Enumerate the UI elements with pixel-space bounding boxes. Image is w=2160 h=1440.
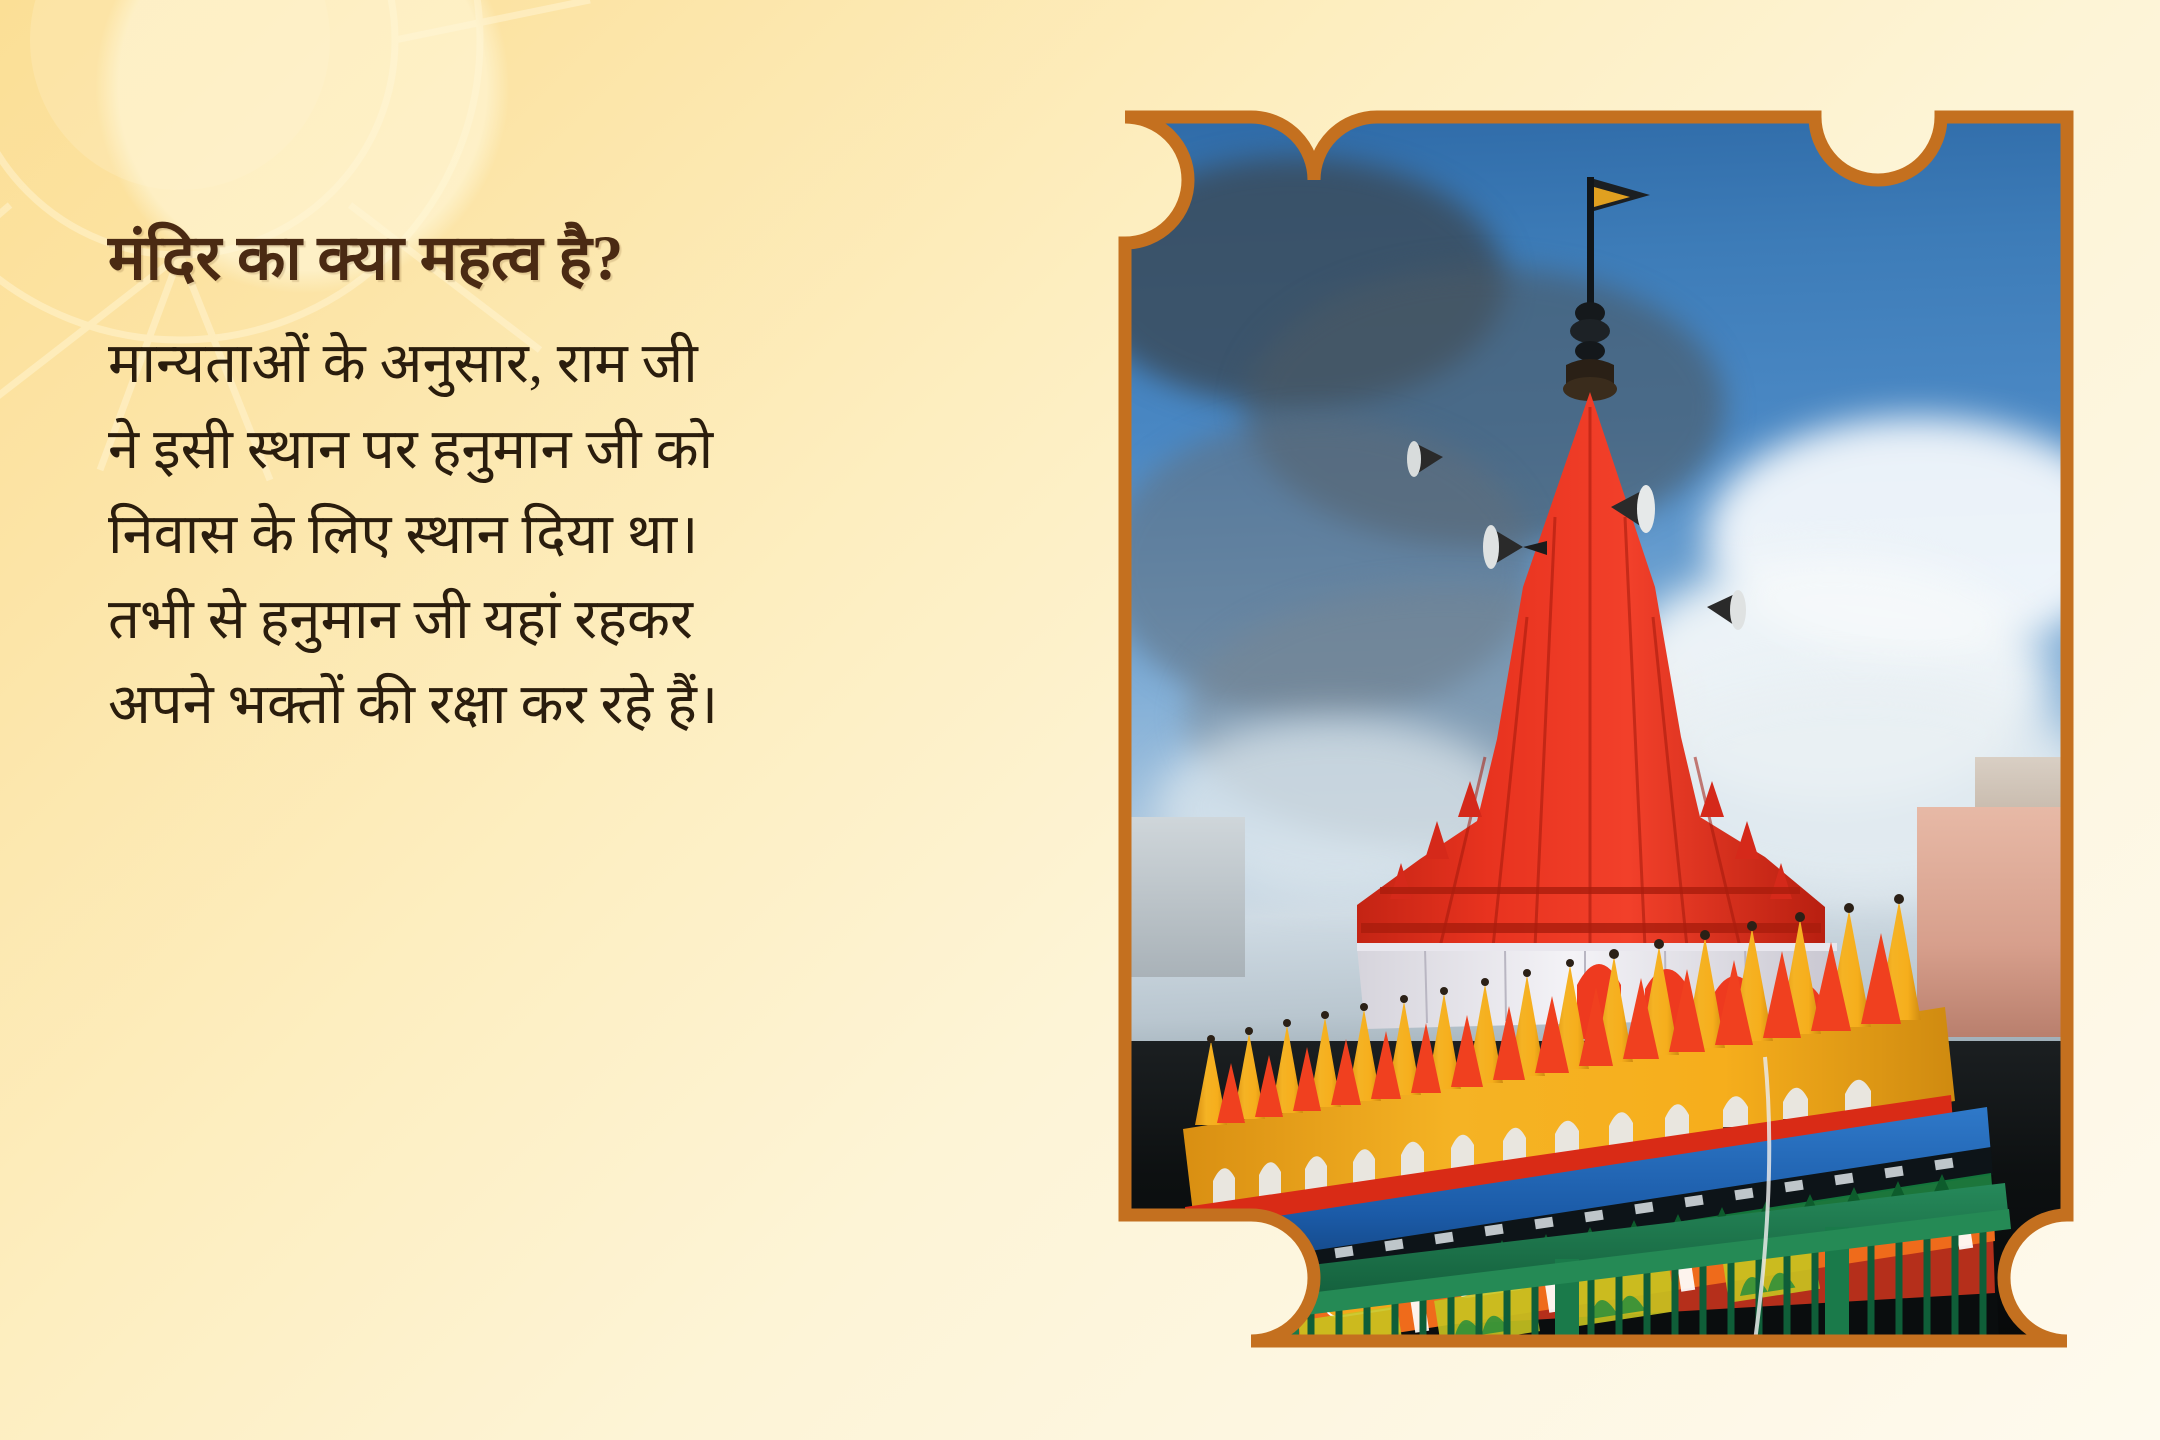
photo-frame-border	[1116, 108, 2076, 1350]
body-paragraph: मान्यताओं के अनुसार, राम जी ने इसी स्थान…	[108, 322, 1048, 748]
paragraph-line: निवास के लिए स्थान दिया था।	[108, 493, 1048, 578]
page-title: मंदिर का क्या महत्व है?	[108, 222, 1048, 294]
temple-photo-frame	[1116, 108, 2076, 1350]
text-column: मंदिर का क्या महत्व है? मान्यताओं के अनु…	[108, 222, 1048, 748]
paragraph-line: ने इसी स्थान पर हनुमान जी को	[108, 408, 1048, 493]
paragraph-line: तभी से हनुमान जी यहां रहकर	[108, 578, 1048, 663]
paragraph-line: मान्यताओं के अनुसार, राम जी	[108, 322, 1048, 407]
paragraph-line: अपने भक्तों की रक्षा कर रहे हैं।	[108, 663, 1048, 748]
